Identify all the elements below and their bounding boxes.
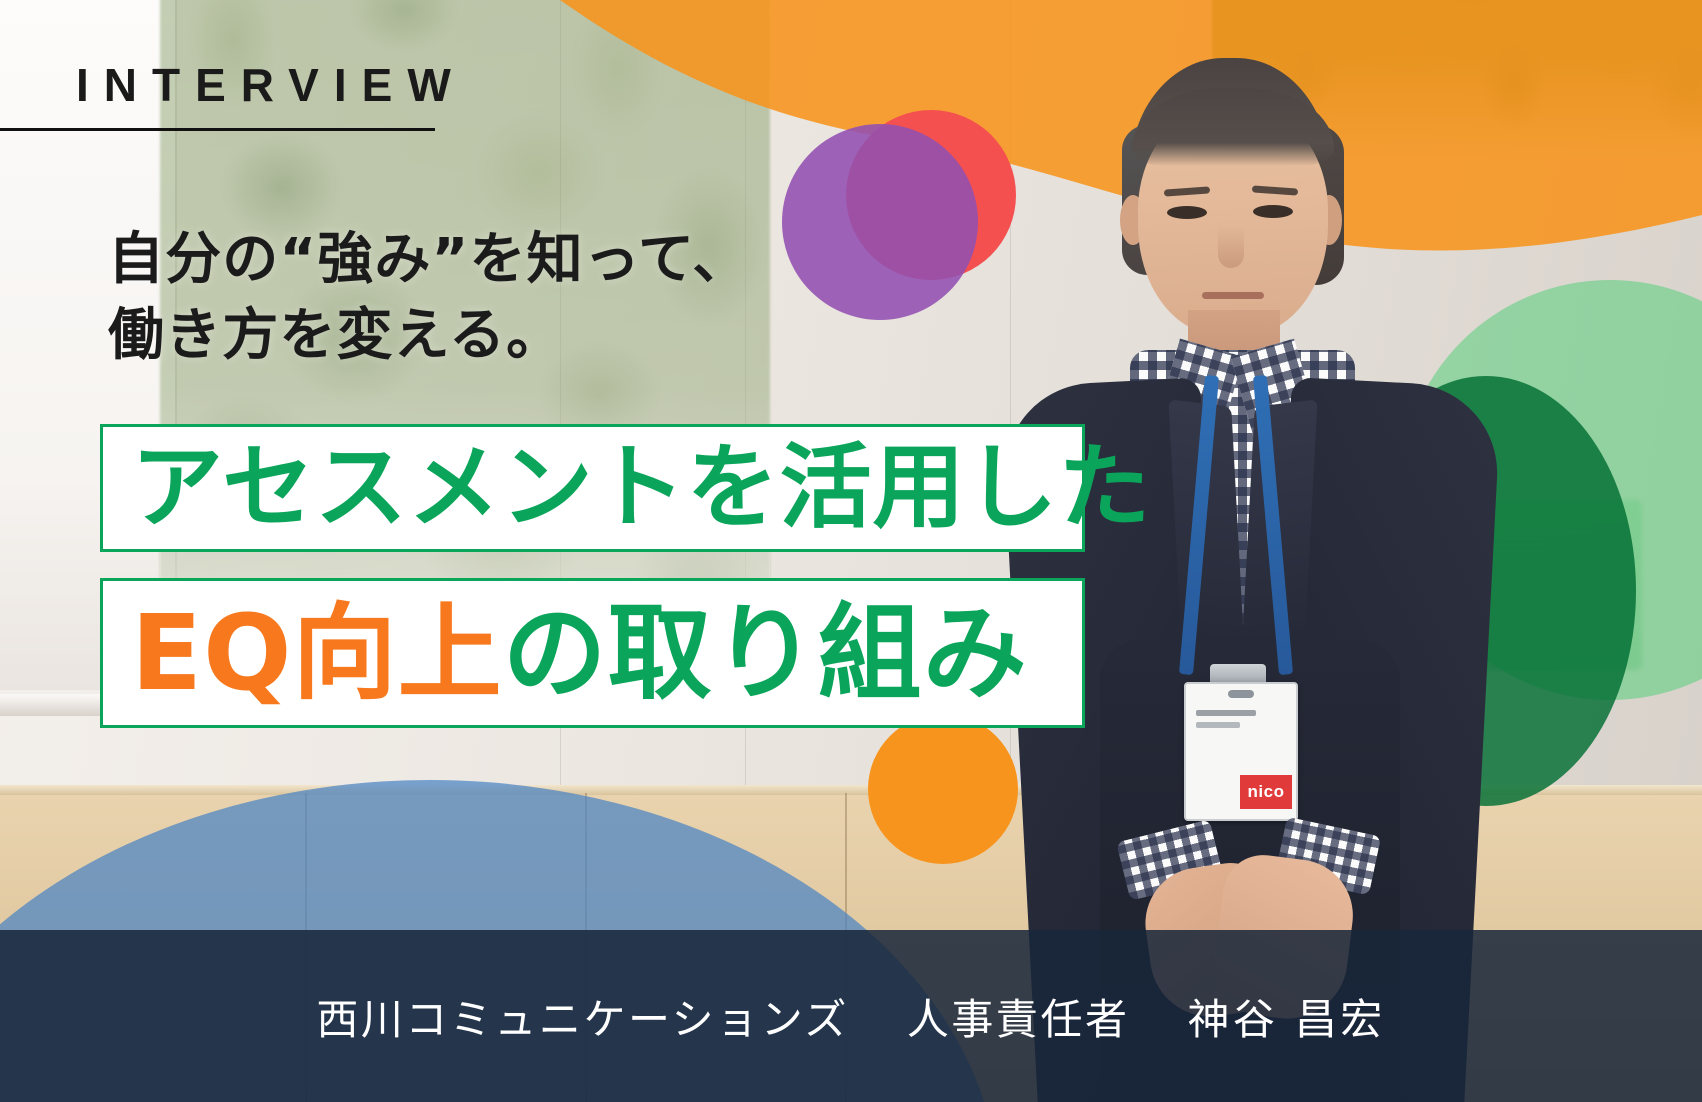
nico-logo: nico — [1240, 775, 1292, 809]
footer-person-name: 神谷 昌宏 — [1188, 986, 1386, 1047]
badge-text-line-1 — [1196, 710, 1256, 716]
title-box-primary: アセスメントを活用した — [100, 424, 1085, 552]
interview-eyebrow-label: INTERVIEW — [76, 62, 436, 108]
person-eye-right — [1253, 205, 1293, 218]
id-badge: nico — [1184, 682, 1298, 821]
footer-credit: 西川コミュニケーションズ 人事責任者 神谷 昌宏 — [0, 930, 1702, 1102]
title-line-2-highlight: EQ向上 — [131, 601, 503, 705]
title-box-secondary: EQ向上の取り組み — [100, 578, 1085, 728]
footer-role: 人事責任者 — [907, 986, 1130, 1047]
badge-text-line-2 — [1196, 722, 1240, 728]
subtitle: 自分の“強み”を知って、 働き方を変える。 — [108, 222, 868, 374]
title-line-1: アセスメントを活用した — [131, 442, 1151, 534]
badge-hole — [1228, 690, 1254, 698]
title-line-2-rest: の取り組み — [503, 601, 1028, 705]
interview-banner: nico INTERVIEW 自分の“強み”を知って、 働き方を変える。 アセス… — [0, 0, 1702, 1102]
person-eye-left — [1167, 206, 1207, 219]
eyebrow-underline — [0, 128, 435, 131]
footer-company: 西川コミュニケーションズ — [316, 986, 849, 1047]
subtitle-line-2: 働き方を変える。 — [108, 298, 868, 374]
interview-eyebrow: INTERVIEW — [76, 62, 436, 108]
orange-circle-shape — [868, 714, 1018, 864]
person-nose — [1218, 226, 1244, 268]
person-mouth — [1202, 292, 1264, 299]
subtitle-line-1: 自分の“強み”を知って、 — [108, 222, 868, 298]
